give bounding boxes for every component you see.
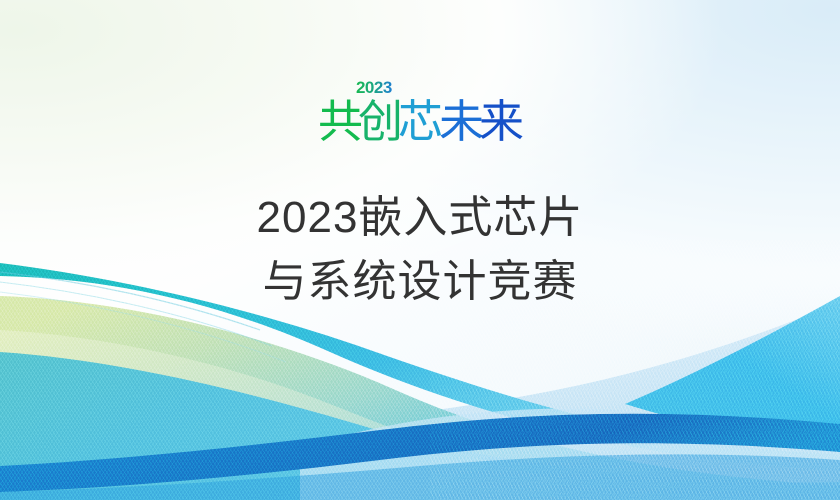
logo-container: 共 创 芯 未 来 2023	[0, 78, 840, 144]
competition-logo: 共 创 芯 未 来 2023	[318, 78, 522, 144]
logo-char-3: 芯	[398, 99, 441, 144]
logo-year-badge: 2023	[356, 79, 392, 96]
logo-char-5: 来	[479, 99, 522, 144]
poster-banner: 共 创 芯 未 来 2023 2023嵌入式芯片 与系统设计竞赛	[0, 0, 840, 500]
page-title: 2023嵌入式芯片 与系统设计竞赛	[0, 186, 840, 314]
title-line-1: 2023嵌入式芯片	[0, 186, 840, 250]
title-line-2: 与系统设计竞赛	[0, 250, 840, 314]
logo-char-4: 未	[439, 99, 482, 144]
logo-char-2: 创	[358, 99, 401, 144]
logo-char-1: 共	[318, 99, 361, 144]
